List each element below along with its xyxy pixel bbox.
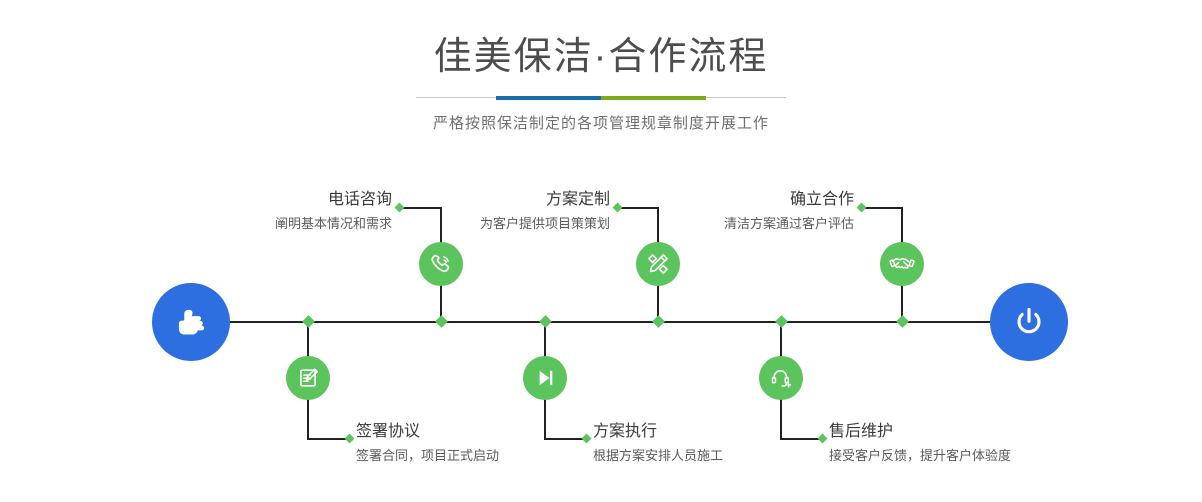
headset-plus-icon [768, 365, 794, 391]
page-subtitle: 严格按照保洁制定的各项管理规章制度开展工作 [0, 112, 1202, 133]
step-1-desc: 阐明基本情况和需求 [196, 214, 392, 234]
step-1-caption-dot [395, 203, 405, 213]
step-2-caption: 签署协议 签署合同，项目正式启动 [356, 422, 586, 466]
step-6-caption-line [861, 207, 903, 209]
step-5-node [759, 356, 803, 400]
step-6-title: 确立合作 [638, 190, 854, 210]
step-6-desc: 清洁方案通过客户评估 [638, 214, 854, 234]
timeline-axis [155, 321, 1050, 323]
step-5-caption: 售后维护 接受客户反馈，提升客户体验度 [829, 422, 1079, 466]
flow-end-node [990, 283, 1068, 361]
step-3-axis-marker [652, 315, 665, 328]
step-2-caption-line [307, 438, 349, 440]
step-4-caption: 方案执行 根据方案安排人员施工 [593, 422, 823, 466]
page-header: 佳美保洁·合作流程 严格按照保洁制定的各项管理规章制度开展工作 [0, 0, 1202, 133]
step-5-title: 售后维护 [829, 422, 1079, 442]
step-2-axis-marker [302, 315, 315, 328]
step-6-axis-marker [896, 315, 909, 328]
step-4-axis-marker [539, 315, 552, 328]
step-1-title: 电话咨询 [196, 190, 392, 210]
handshake-icon [889, 251, 915, 277]
step-3-node [636, 242, 680, 286]
divider-blue-segment [496, 96, 601, 100]
step-2-desc: 签署合同，项目正式启动 [356, 446, 586, 466]
step-5-desc: 接受客户反馈，提升客户体验度 [829, 446, 1079, 466]
process-flow-diagram: 电话咨询 阐明基本情况和需求 签署协议 签署合同，项目正式启动 [0, 150, 1202, 502]
title-divider [416, 94, 786, 102]
step-6-node [880, 242, 924, 286]
step-4-node [523, 356, 567, 400]
divider-green-segment [601, 96, 706, 100]
step-1-axis-marker [435, 315, 448, 328]
flow-start-node [152, 283, 230, 361]
play-next-icon [532, 365, 558, 391]
step-5-axis-marker [775, 315, 788, 328]
step-2-title: 签署协议 [356, 422, 586, 442]
step-3-caption: 方案定制 为客户提供项目策策划 [412, 190, 610, 234]
hand-pointing-icon [170, 301, 212, 343]
step-3-desc: 为客户提供项目策策划 [412, 214, 610, 234]
pencil-ruler-icon [645, 251, 671, 277]
step-6-caption: 确立合作 清洁方案通过客户评估 [638, 190, 854, 234]
phone-call-icon [428, 251, 454, 277]
page-title: 佳美保洁·合作流程 [0, 0, 1202, 80]
step-1-node [419, 242, 463, 286]
document-pen-icon [295, 365, 321, 391]
power-icon [1008, 301, 1050, 343]
step-3-caption-dot [613, 203, 623, 213]
step-4-desc: 根据方案安排人员施工 [593, 446, 823, 466]
step-6-caption-dot [857, 203, 867, 213]
step-1-caption: 电话咨询 阐明基本情况和需求 [196, 190, 392, 234]
step-2-node [286, 356, 330, 400]
step-3-title: 方案定制 [412, 190, 610, 210]
step-4-title: 方案执行 [593, 422, 823, 442]
step-2-caption-dot [345, 434, 355, 444]
